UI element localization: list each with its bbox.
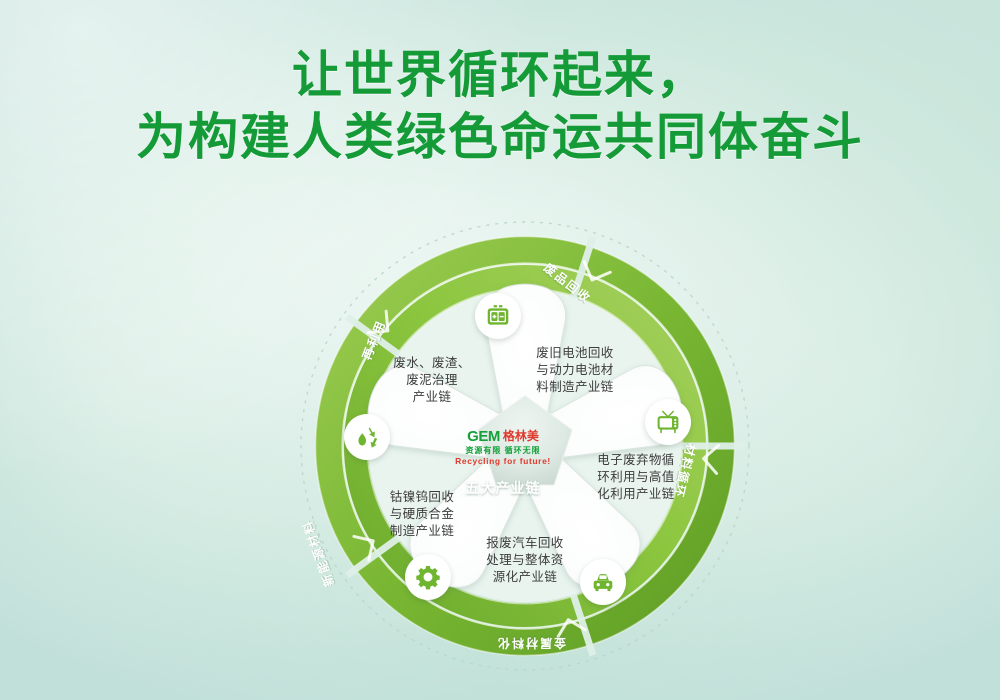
segment-label-water-waste: 废水、废渣、 废泥治理 产业链 xyxy=(378,355,486,406)
battery-icon xyxy=(485,303,511,329)
water-recycle-icon xyxy=(354,424,380,450)
logo-chinese-name: 格林美 xyxy=(503,430,539,443)
badge-car[interactable] xyxy=(580,559,626,605)
segment-label-battery: 废旧电池回收 与动力电池材 料制造产业链 xyxy=(521,345,629,396)
badge-battery[interactable] xyxy=(475,293,521,339)
badge-gear[interactable] xyxy=(405,554,451,600)
page-title: 让世界循环起来， 为构建人类绿色命运共同体奋斗 xyxy=(0,44,1000,168)
car-icon xyxy=(590,569,616,595)
gear-icon xyxy=(415,564,441,590)
ring-label-metal-materials: 金属材料化 xyxy=(496,635,566,652)
badge-tv[interactable] xyxy=(645,399,691,445)
tv-icon xyxy=(655,409,681,435)
center-subtitle: 五大产业链 xyxy=(448,478,558,498)
segment-label-vehicle: 报废汽车回收 处理与整体资 源化产业链 xyxy=(473,535,577,586)
logo-wordmark-row: GEM 格林美 xyxy=(455,429,551,444)
logo-gem-mark: GEM xyxy=(467,429,500,444)
badge-water-recycle[interactable] xyxy=(344,414,390,460)
logo-tagline-en: Recycling for future! xyxy=(455,456,551,467)
logo-tagline-cn: 资源有限 循环无限 xyxy=(455,445,551,456)
title-line-2: 为构建人类绿色命运共同体奋斗 xyxy=(0,106,1000,168)
title-line-1: 让世界循环起来， xyxy=(0,44,1000,106)
gem-logo: GEM 格林美 资源有限 循环无限 Recycling for future! xyxy=(455,429,551,467)
